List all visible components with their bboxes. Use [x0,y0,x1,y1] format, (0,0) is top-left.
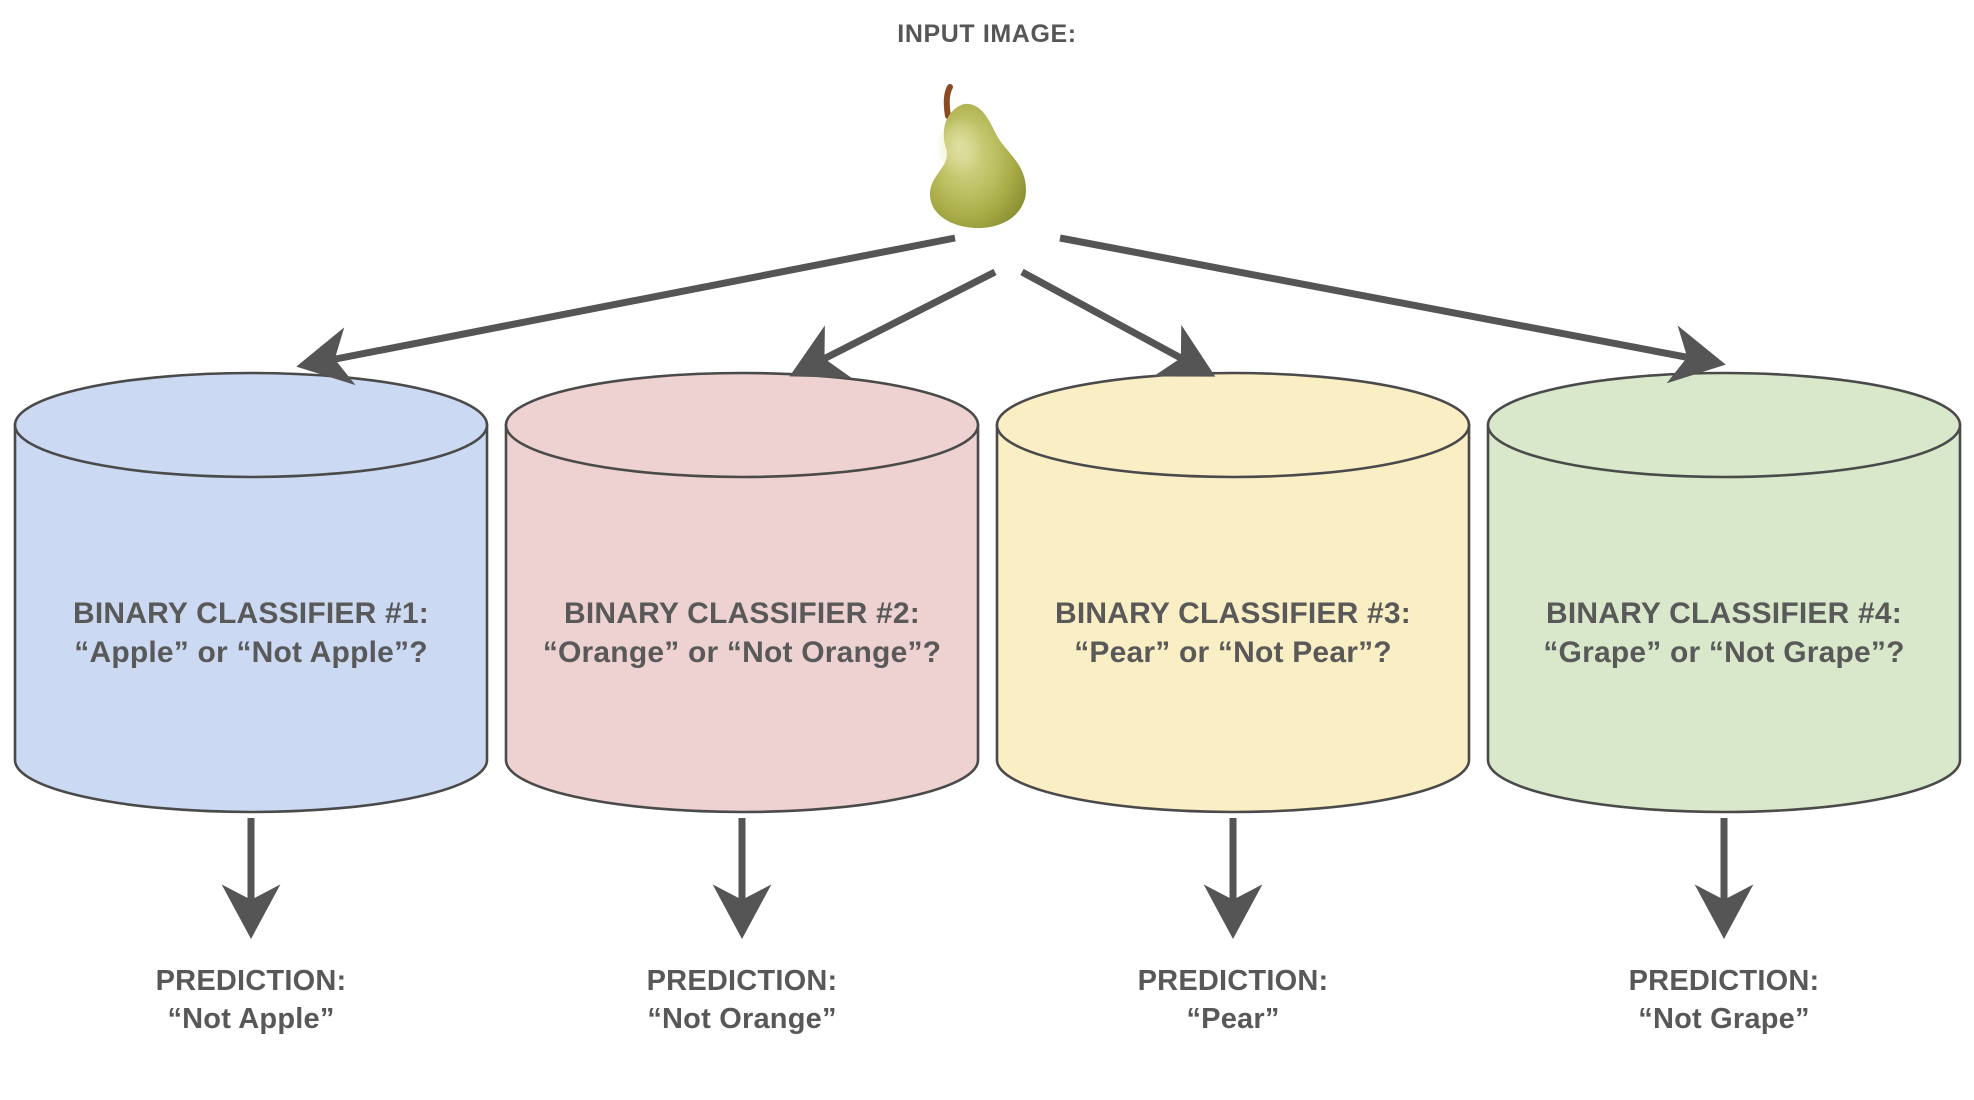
classifier-cylinder-3[interactable] [997,373,1469,812]
classifier-heading-4: BINARY CLASSIFIER #4: [1484,594,1964,633]
cylinder-top-3 [997,373,1469,477]
classifier-question-2: “Orange” or “Not Orange”? [502,633,982,672]
diagram-canvas: INPUT IMAGE: [0,0,1974,1100]
classifier-question-1: “Apple” or “Not Apple”? [11,633,491,672]
prediction-heading-3: PREDICTION: [993,962,1473,1000]
prediction-value-3: “Pear” [993,1000,1473,1038]
classifier-question-4: “Grape” or “Not Grape”? [1484,633,1964,672]
classifier-heading-1: BINARY CLASSIFIER #1: [11,594,491,633]
classifier-label-2: BINARY CLASSIFIER #2: “Orange” or “Not O… [502,594,982,672]
classifier-heading-3: BINARY CLASSIFIER #3: [993,594,1473,633]
prediction-value-4: “Not Grape” [1484,1000,1964,1038]
classifier-heading-2: BINARY CLASSIFIER #2: [502,594,982,633]
classifier-label-1: BINARY CLASSIFIER #1: “Apple” or “Not Ap… [11,594,491,672]
prediction-3: PREDICTION: “Pear” [993,962,1473,1039]
prediction-heading-1: PREDICTION: [11,962,491,1000]
classifier-cylinder-2[interactable] [506,373,978,812]
classifier-cylinders [0,0,1974,1100]
cylinder-top-2 [506,373,978,477]
cylinder-top-4 [1488,373,1960,477]
prediction-4: PREDICTION: “Not Grape” [1484,962,1964,1039]
classifier-cylinder-1[interactable] [15,373,487,812]
prediction-value-1: “Not Apple” [11,1000,491,1038]
classifier-cylinder-4[interactable] [1488,373,1960,812]
classifier-label-3: BINARY CLASSIFIER #3: “Pear” or “Not Pea… [993,594,1473,672]
prediction-heading-4: PREDICTION: [1484,962,1964,1000]
prediction-value-2: “Not Orange” [502,1000,982,1038]
classifier-question-3: “Pear” or “Not Pear”? [993,633,1473,672]
prediction-heading-2: PREDICTION: [502,962,982,1000]
classifier-label-4: BINARY CLASSIFIER #4: “Grape” or “Not Gr… [1484,594,1964,672]
cylinder-top-1 [15,373,487,477]
prediction-1: PREDICTION: “Not Apple” [11,962,491,1039]
prediction-2: PREDICTION: “Not Orange” [502,962,982,1039]
